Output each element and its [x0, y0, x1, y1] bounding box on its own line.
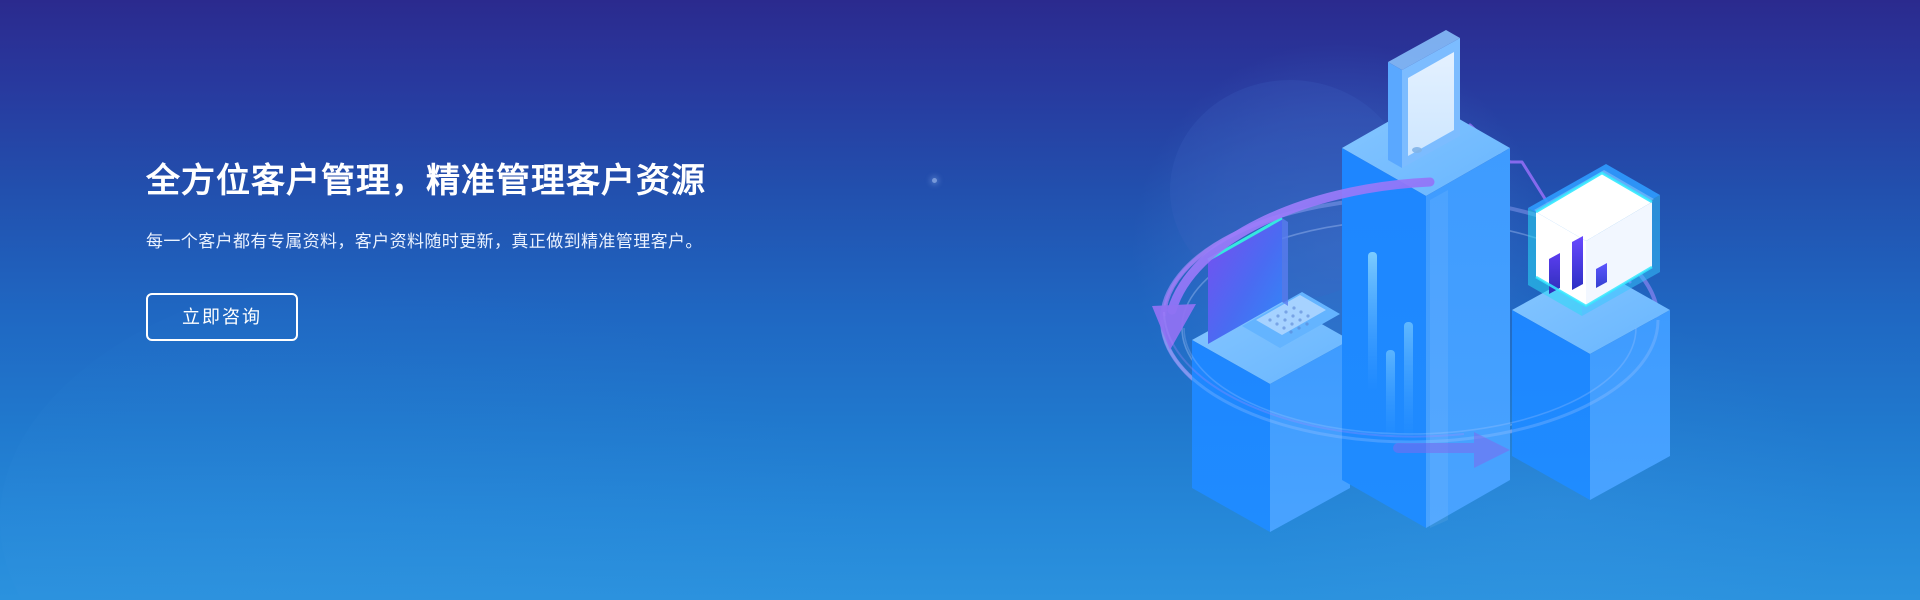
consult-now-button[interactable]: 立即咨询: [146, 293, 298, 341]
sparkle-dot-icon: [932, 178, 937, 183]
hero-banner: 全方位客户管理，精准管理客户资源 每一个客户都有专属资料，客户资料随时更新，真正…: [0, 0, 1920, 600]
hero-illustration: [1130, 20, 1690, 600]
hero-copy: 全方位客户管理，精准管理客户资源 每一个客户都有专属资料，客户资料随时更新，真正…: [146, 160, 786, 341]
bar-center: [1342, 100, 1510, 528]
hero-subtitle: 每一个客户都有专属资料，客户资料随时更新，真正做到精准管理客户。: [146, 229, 746, 255]
page-title: 全方位客户管理，精准管理客户资源: [146, 160, 786, 203]
